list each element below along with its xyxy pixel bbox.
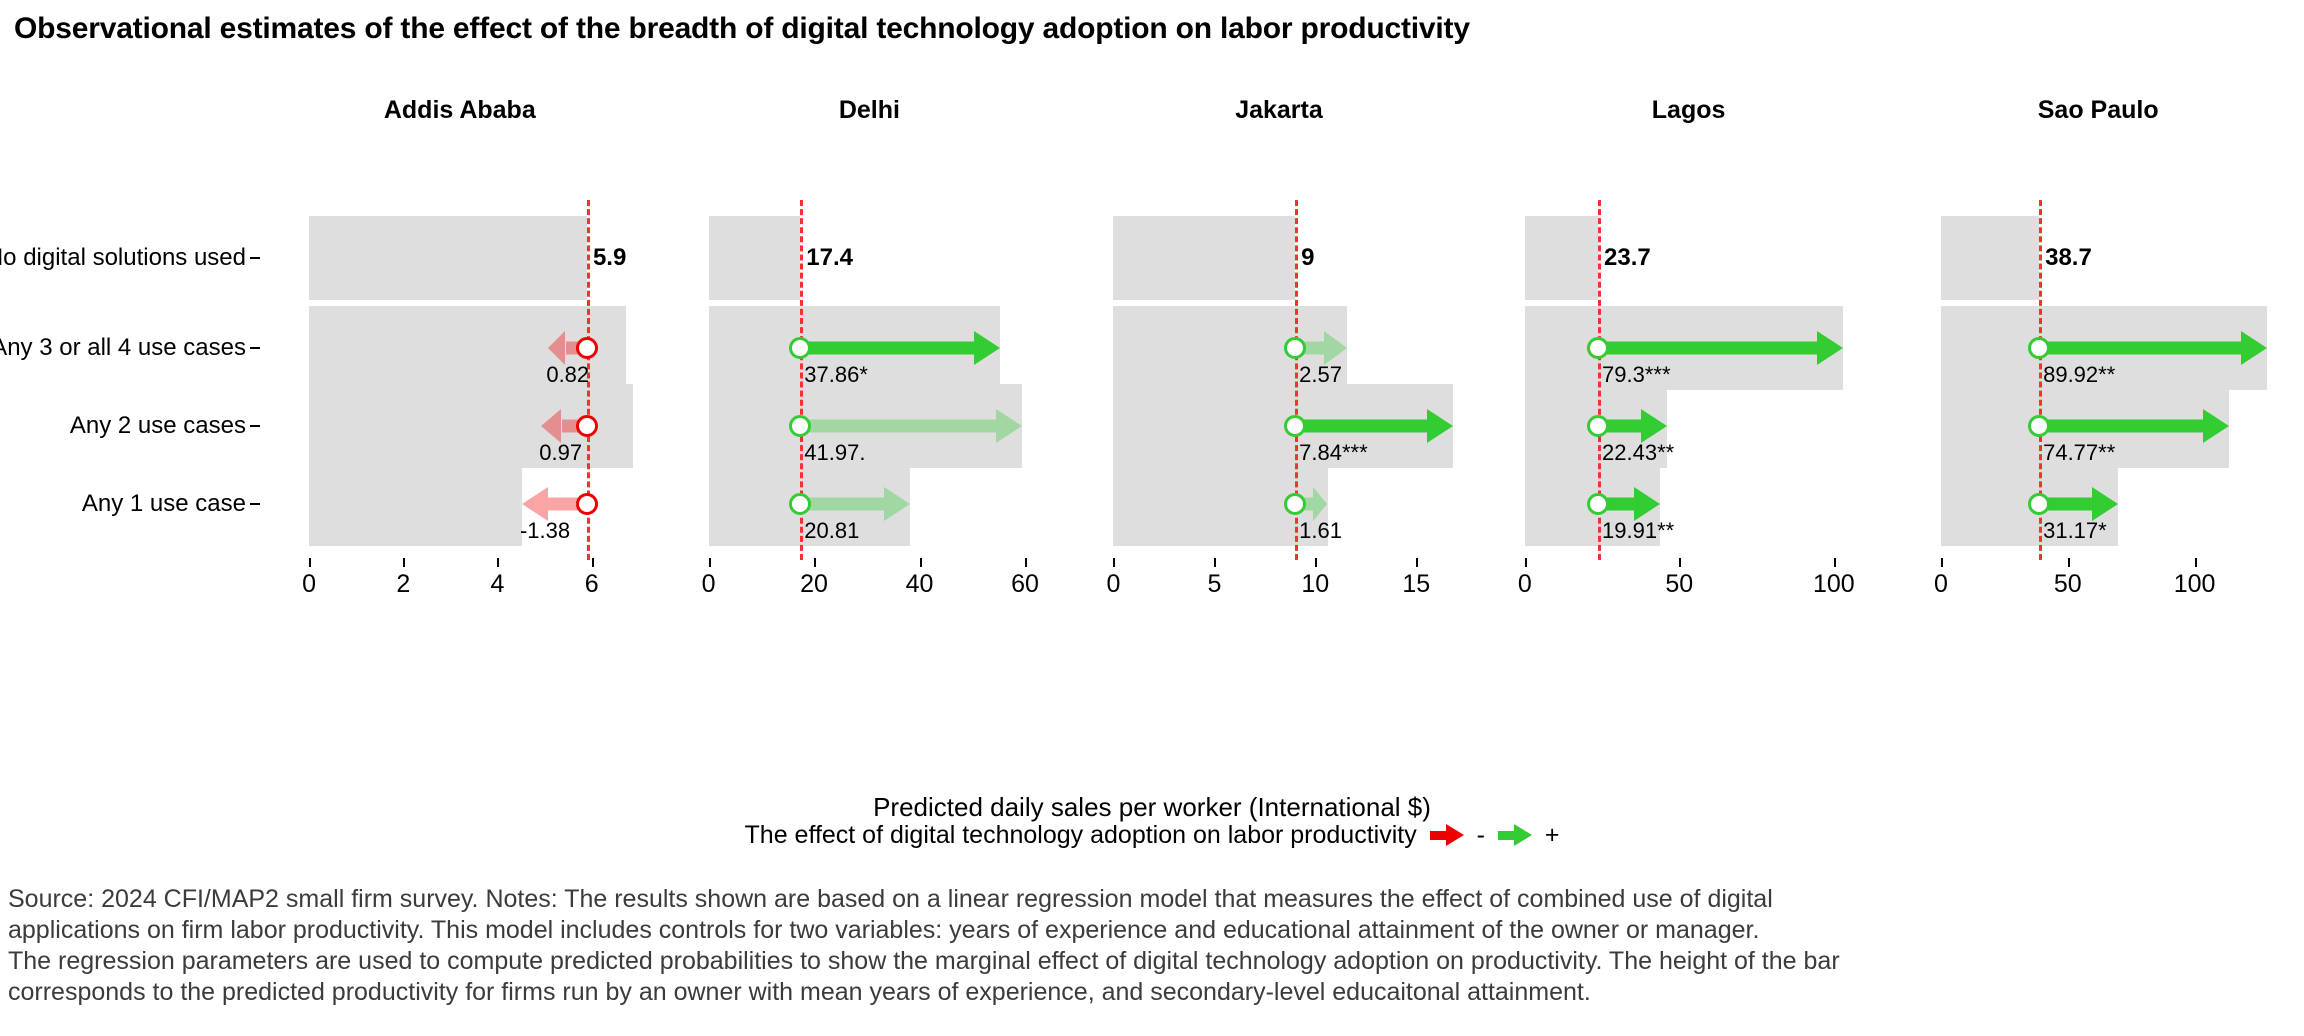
- facet-panel-addis-ababa: Addis Ababa5.90.820.97-1.380246: [262, 88, 658, 788]
- row-axis-tick: [250, 503, 260, 505]
- panel-title: Delhi: [672, 96, 1068, 125]
- x-axis-tick-label: 6: [585, 570, 599, 599]
- row-axis-tick: [250, 347, 260, 349]
- arrow-head: [1313, 487, 1327, 521]
- effect-arrow-positive: [800, 409, 1021, 443]
- bar-1: [1113, 216, 1295, 300]
- x-axis-tick: [1941, 558, 1943, 567]
- x-axis-tick: [309, 558, 311, 567]
- bar-4: [309, 462, 522, 546]
- x-axis-tick: [814, 558, 816, 567]
- bar-1: [709, 216, 801, 300]
- x-axis-tick: [1525, 558, 1527, 567]
- effect-arrow-positive: [800, 331, 1000, 365]
- x-axis-tick: [1113, 558, 1115, 567]
- arrow-shaft: [800, 420, 995, 433]
- baseline-point-marker: [789, 415, 811, 437]
- x-axis-tick: [2068, 558, 2070, 567]
- arrow-head: [2203, 409, 2229, 443]
- legend-positive-label: +: [1545, 821, 1560, 850]
- effect-value-label: 2.57: [1299, 362, 1342, 388]
- x-axis-tick-label: 0: [1107, 570, 1121, 599]
- x-axis-tick-label: 5: [1207, 570, 1221, 599]
- effect-value-label: 41.97.: [804, 440, 865, 466]
- effect-value-label: 0.97: [539, 440, 582, 466]
- baseline-point-marker: [789, 337, 811, 359]
- arrow-head: [996, 409, 1022, 443]
- baseline-point-marker: [2028, 493, 2050, 515]
- baseline-value-label: 5.9: [589, 244, 626, 272]
- effect-value-label: 89.92**: [2043, 362, 2115, 388]
- x-axis-tick-label: 50: [1665, 570, 1693, 599]
- arrow-shaft: [1295, 420, 1427, 433]
- x-axis-tick-label: 0: [702, 570, 716, 599]
- legend-negative-label: -: [1477, 821, 1485, 850]
- baseline-point-marker: [1284, 493, 1306, 515]
- baseline-point-marker: [789, 493, 811, 515]
- effect-value-label: 79.3***: [1602, 362, 1671, 388]
- arrow-head: [1427, 409, 1453, 443]
- effect-value-label: 31.17*: [2043, 518, 2107, 544]
- row-label-1: No digital solutions used: [0, 244, 246, 272]
- x-axis-tick: [592, 558, 594, 567]
- x-axis-tick: [1679, 558, 1681, 567]
- arrow-head: [974, 331, 1000, 365]
- baseline-point-marker: [2028, 337, 2050, 359]
- source-notes: Source: 2024 CFI/MAP2 small firm survey.…: [8, 884, 2304, 1008]
- effect-value-label: 74.77**: [2043, 440, 2115, 466]
- row-label-3: Any 2 use cases: [70, 412, 246, 440]
- effect-arrow-positive: [2039, 409, 2229, 443]
- effect-arrow-positive: [1295, 409, 1453, 443]
- row-label-2: Any 3 or all 4 use cases: [0, 334, 246, 362]
- arrow-shaft: [2039, 342, 2241, 355]
- baseline-value-label: 23.7: [1600, 244, 1651, 272]
- x-axis-tick: [1315, 558, 1317, 567]
- arrow-shaft: [800, 498, 884, 511]
- baseline-point-marker: [576, 337, 598, 359]
- arrow-head: [541, 409, 561, 443]
- arrow-shaft: [2039, 420, 2203, 433]
- arrow-head: [1324, 331, 1347, 365]
- x-axis-tick-label: 0: [1518, 570, 1532, 599]
- baseline-value-label: 38.7: [2041, 244, 2092, 272]
- baseline-value-label: 17.4: [802, 244, 853, 272]
- baseline-value-label: 9: [1297, 244, 1314, 272]
- panel-title: Addis Ababa: [262, 96, 658, 125]
- x-axis-tick: [2195, 558, 2197, 567]
- x-axis-tick-label: 60: [1011, 570, 1039, 599]
- effect-value-label: -1.38: [520, 518, 570, 544]
- x-axis-tick-label: 4: [491, 570, 505, 599]
- legend-negative-arrow-icon: [1430, 822, 1464, 848]
- x-axis-tick: [1214, 558, 1216, 567]
- arrow-head: [548, 331, 565, 365]
- x-axis-tick: [1025, 558, 1027, 567]
- arrow-head: [2241, 331, 2267, 365]
- row-axis-tick: [250, 425, 260, 427]
- facet-plot-area: No digital solutions usedAny 3 or all 4 …: [0, 88, 2304, 788]
- x-axis-tick: [1834, 558, 1836, 567]
- page-title: Observational estimates of the effect of…: [14, 12, 2294, 46]
- baseline-point-marker: [576, 415, 598, 437]
- baseline-point-marker: [576, 493, 598, 515]
- row-label-4: Any 1 use case: [82, 490, 246, 518]
- effect-arrow-positive: [2039, 487, 2118, 521]
- arrow-head: [884, 487, 910, 521]
- note-line-4: corresponds to the predicted productivit…: [8, 977, 2304, 1008]
- x-axis-title: Predicted daily sales per worker (Intern…: [0, 792, 2304, 823]
- x-axis-tick: [920, 558, 922, 567]
- baseline-point-marker: [2028, 415, 2050, 437]
- x-axis-tick-label: 0: [1934, 570, 1948, 599]
- facet-panel-jakarta: Jakarta92.577.84***1.61051015: [1081, 88, 1477, 788]
- effect-value-label: 37.86*: [804, 362, 868, 388]
- x-axis-tick-label: 100: [2174, 570, 2216, 599]
- x-axis-tick-label: 40: [906, 570, 934, 599]
- x-axis-tick-label: 15: [1402, 570, 1430, 599]
- baseline-point-marker: [1284, 415, 1306, 437]
- legend-positive-arrow-icon: [1498, 822, 1532, 848]
- baseline-point-marker: [1284, 337, 1306, 359]
- arrow-shaft: [1598, 342, 1817, 355]
- x-axis-tick-label: 20: [800, 570, 828, 599]
- facet-panel-sao-paulo: Sao Paulo38.789.92**74.77**31.17*050100: [1900, 88, 2296, 788]
- arrow-head: [1817, 331, 1843, 365]
- effect-value-label: 7.84***: [1299, 440, 1368, 466]
- x-axis-tick: [497, 558, 499, 567]
- x-axis-tick-label: 0: [302, 570, 316, 599]
- x-axis-tick-label: 2: [396, 570, 410, 599]
- baseline-point-marker: [1587, 493, 1609, 515]
- arrow-shaft: [800, 342, 974, 355]
- effect-value-label: 0.82: [546, 362, 589, 388]
- arrow-head: [1634, 487, 1660, 521]
- x-axis-tick-label: 50: [2054, 570, 2082, 599]
- arrow-head: [522, 487, 548, 521]
- panel-title: Jakarta: [1081, 96, 1477, 125]
- effect-arrow-positive: [800, 487, 910, 521]
- x-axis-tick: [1416, 558, 1418, 567]
- arrow-head: [1641, 409, 1667, 443]
- row-axis-tick: [250, 257, 260, 259]
- effect-value-label: 20.81: [804, 518, 859, 544]
- arrow-head: [2092, 487, 2118, 521]
- note-line-1: Source: 2024 CFI/MAP2 small firm survey.…: [8, 884, 2304, 915]
- effect-arrow-positive: [2039, 331, 2267, 365]
- facet-panel-lagos: Lagos23.779.3***22.43**19.91**050100: [1491, 88, 1887, 788]
- panel-title: Lagos: [1491, 96, 1887, 125]
- effect-value-label: 19.91**: [1602, 518, 1674, 544]
- baseline-point-marker: [1587, 337, 1609, 359]
- x-axis-tick-label: 100: [1813, 570, 1855, 599]
- facet-panel-delhi: Delhi17.437.86*41.97.20.810204060: [672, 88, 1068, 788]
- effect-value-label: 22.43**: [1602, 440, 1674, 466]
- baseline-point-marker: [1587, 415, 1609, 437]
- legend-title: The effect of digital technology adoptio…: [745, 821, 1417, 850]
- x-axis-tick: [403, 558, 405, 567]
- note-line-3: The regression parameters are used to co…: [8, 946, 2304, 977]
- x-axis-tick: [709, 558, 711, 567]
- effect-arrow-positive: [1598, 331, 1843, 365]
- bar-1: [309, 216, 587, 300]
- note-line-2: applications on firm labor productivity.…: [8, 915, 2304, 946]
- x-axis-tick-label: 10: [1301, 570, 1329, 599]
- bar-1: [1941, 216, 2039, 300]
- panel-title: Sao Paulo: [1900, 96, 2296, 125]
- bar-1: [1525, 216, 1598, 300]
- effect-value-label: 1.61: [1299, 518, 1342, 544]
- chart-legend: The effect of digital technology adoptio…: [0, 820, 2304, 850]
